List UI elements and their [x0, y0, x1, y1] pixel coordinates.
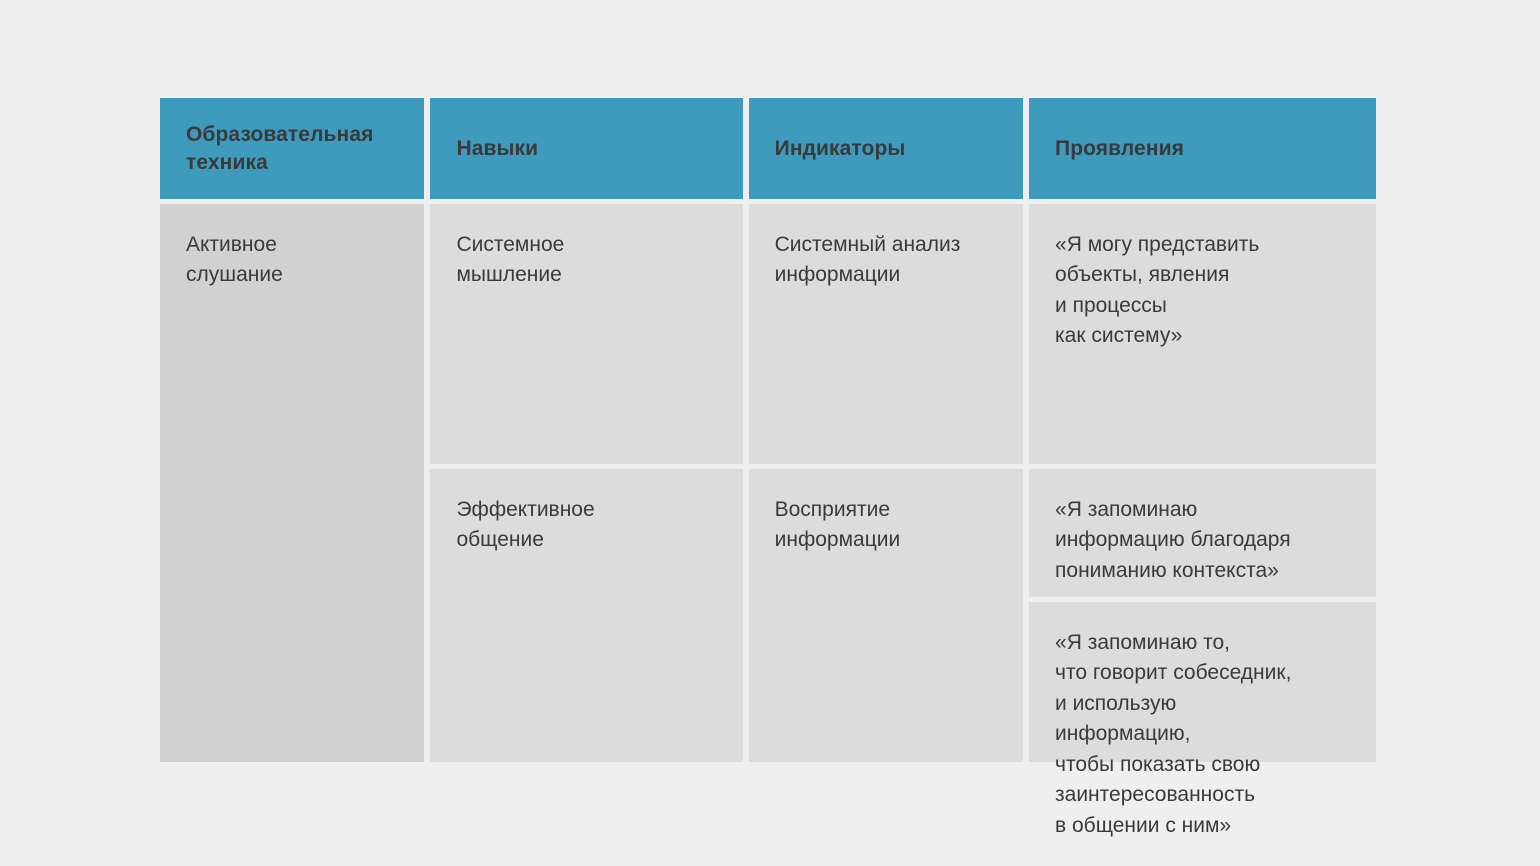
- table-cell-skills-2: Эффективное общение: [430, 469, 742, 762]
- table-cell-manifestations-2-text: «Я запоминаю информацию благодаря понима…: [1055, 498, 1291, 582]
- table-cell-manifestations-3: «Я запоминаю то, что говорит собеседник,…: [1029, 602, 1376, 762]
- column-header-indicators-label: Индикаторы: [775, 135, 906, 163]
- table-cell-technique-1-text: Активное слушание: [186, 233, 283, 286]
- column-header-technique-label: Образовательная техника: [186, 121, 398, 176]
- table-cell-skills-1: Системное мышление: [430, 204, 742, 464]
- skills-matrix-table: Образовательная техника Активное слушани…: [160, 98, 1376, 762]
- table-cell-indicators-2-text: Восприятие информации: [775, 498, 901, 551]
- column-header-skills-label: Навыки: [456, 135, 538, 163]
- column-header-technique: Образовательная техника: [160, 98, 424, 199]
- table-column-skills: Навыки Системное мышление Эффективное об…: [430, 98, 742, 762]
- table-column-technique: Образовательная техника Активное слушани…: [160, 98, 424, 762]
- table-column-indicators: Индикаторы Системный анализ информации В…: [749, 98, 1023, 762]
- table-cell-indicators-1-text: Системный анализ информации: [775, 233, 961, 286]
- column-header-indicators: Индикаторы: [749, 98, 1023, 199]
- table-cell-skills-2-text: Эффективное общение: [456, 498, 594, 551]
- column-header-manifestations: Проявления: [1029, 98, 1376, 199]
- column-header-skills: Навыки: [430, 98, 742, 199]
- table-cell-indicators-1: Системный анализ информации: [749, 204, 1023, 464]
- page-root: Образовательная техника Активное слушани…: [0, 0, 1540, 866]
- table-column-manifestations: Проявления «Я могу представить объекты, …: [1029, 98, 1376, 762]
- column-header-manifestations-label: Проявления: [1055, 135, 1184, 163]
- table-cell-manifestations-3-text: «Я запоминаю то, что говорит собеседник,…: [1055, 631, 1291, 837]
- table-cell-technique-1: Активное слушание: [160, 204, 424, 762]
- table-cell-manifestations-1: «Я могу представить объекты, явления и п…: [1029, 204, 1376, 464]
- table-cell-skills-1-text: Системное мышление: [456, 233, 564, 286]
- table-cell-indicators-2: Восприятие информации: [749, 469, 1023, 762]
- table-cell-manifestations-2: «Я запоминаю информацию благодаря понима…: [1029, 469, 1376, 597]
- table-cell-manifestations-1-text: «Я могу представить объекты, явления и п…: [1055, 233, 1259, 347]
